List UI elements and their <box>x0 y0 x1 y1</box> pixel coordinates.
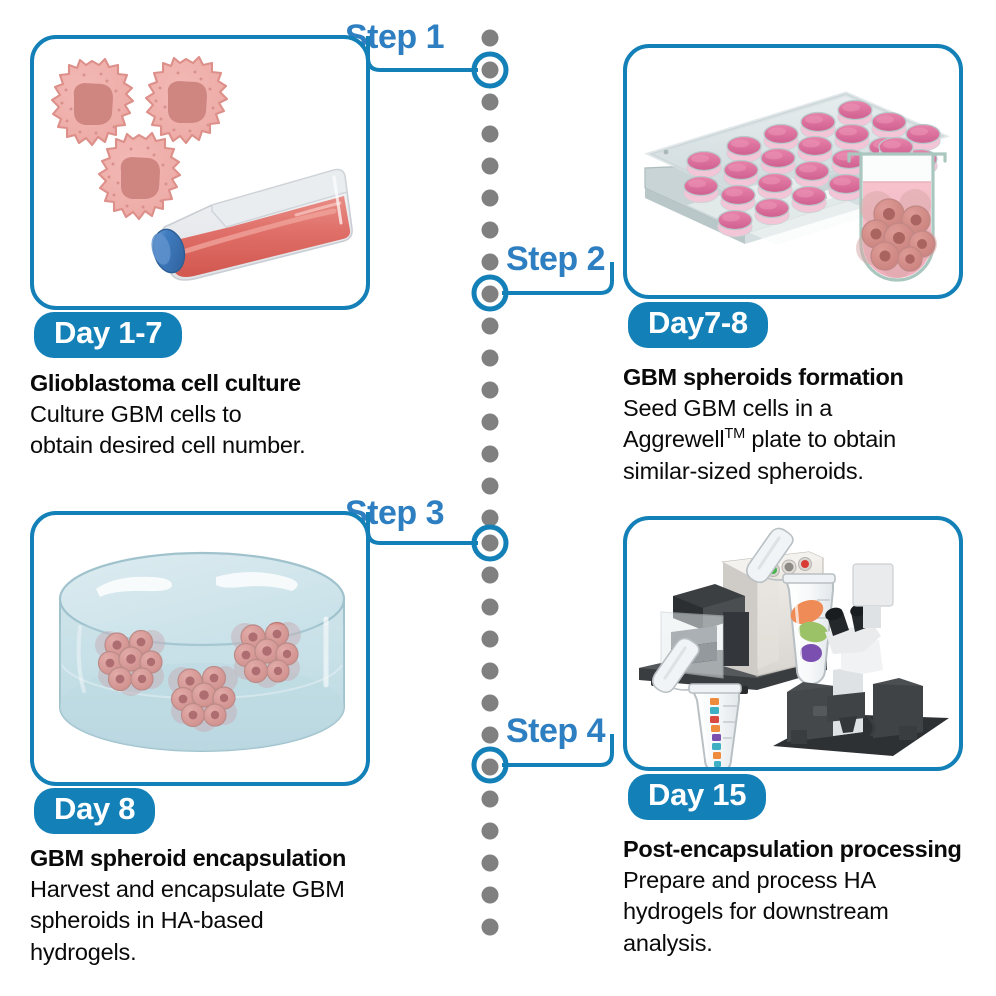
gbm-cells-and-culture-flask-illustration <box>34 39 370 310</box>
step-body-1-line-1: Culture GBM cells to <box>30 399 450 430</box>
step-card-4 <box>623 516 963 771</box>
hydrogel-disc-illustration <box>34 515 370 786</box>
step-card-1 <box>30 35 370 310</box>
timeline-node-step-2 <box>474 277 506 309</box>
hydrogel-cylinder <box>60 553 344 751</box>
timeline-node-step-1 <box>474 54 506 86</box>
step-description-1: Glioblastoma cell culture Culture GBM ce… <box>30 368 450 462</box>
aggrewell-plate-and-spheroid-tube-illustration <box>627 48 963 299</box>
day-badge-1: Day 1-7 <box>34 312 182 358</box>
workflow-figure: Step 1 <box>0 0 996 996</box>
step-body-4-line-1: Prepare and process HA <box>623 865 995 896</box>
trademark-word: Aggrewell <box>623 426 724 452</box>
step-card-2 <box>623 44 963 299</box>
step-body-1-line-2: obtain desired cell number. <box>30 430 450 461</box>
trademark-mark: TM <box>724 426 745 442</box>
day-badge-2: Day7-8 <box>628 302 768 348</box>
timeline-node-step-4 <box>474 749 506 781</box>
step-description-3: GBM spheroid encapsulation Harvest and e… <box>30 843 470 968</box>
step-description-2: GBM spheroids formation Seed GBM cells i… <box>623 362 993 487</box>
step-body-4-line-2: hydrogels for downstream <box>623 896 995 927</box>
step-card-3 <box>30 511 370 786</box>
step-body-3-line-2: spheroids in HA-based <box>30 905 470 936</box>
step-description-4: Post-encapsulation processing Prepare an… <box>623 834 995 959</box>
step-body-4-line-3: analysis. <box>623 928 995 959</box>
timeline-dots <box>482 30 499 936</box>
step-body-2-line-3: similar-sized spheroids. <box>623 456 993 487</box>
gbm-cell-3 <box>99 133 180 219</box>
step-label-2: Step 2 <box>506 240 605 279</box>
step-body-2-line-1: Seed GBM cells in a <box>623 393 993 424</box>
day-badge-4: Day 15 <box>628 774 766 820</box>
day-badge-3: Day 8 <box>34 788 155 834</box>
step-title-1: Glioblastoma cell culture <box>30 368 450 399</box>
gbm-cell-1 <box>52 59 133 145</box>
step-body-3-line-3: hydrogels. <box>30 937 470 968</box>
step-title-3: GBM spheroid encapsulation <box>30 843 470 874</box>
step-title-2: GBM spheroids formation <box>623 362 993 393</box>
step-title-4: Post-encapsulation processing <box>623 834 995 865</box>
step-body-2-line-2: AggrewellTM plate to obtain <box>623 424 993 455</box>
step-body-3-line-1: Harvest and encapsulate GBM <box>30 874 470 905</box>
spheroid-tube <box>848 152 946 280</box>
culture-flask <box>148 170 352 280</box>
rheometer-tubes-microscope-illustration <box>627 520 963 771</box>
timeline-node-step-3 <box>474 527 506 559</box>
step-label-4: Step 4 <box>506 712 605 751</box>
gbm-cell-2 <box>146 57 227 143</box>
